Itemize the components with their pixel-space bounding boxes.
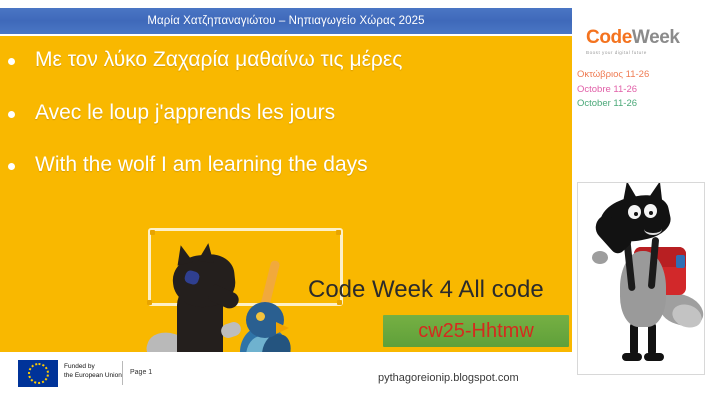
code-week-4-all-text: Code Week 4 All code (308, 276, 544, 304)
wolf-foot (622, 353, 642, 361)
wolf-ear (198, 242, 216, 263)
presentation-slide-view: Μαρία Χατζηπαναγιώτου – Νηπιαγωγείο Χώρα… (0, 0, 710, 400)
wolf-photo-frame (577, 182, 705, 375)
wolf-pupil (649, 211, 653, 215)
wolf-leg (630, 323, 638, 355)
slide-canvas: Μαρία Χατζηπαναγιώτου – Νηπιαγωγείο Χώρα… (0, 0, 572, 400)
blog-url-text: pythagoreionip.blogspot.com (378, 372, 519, 384)
wolf-pupil (634, 212, 638, 216)
bullet-dot-icon (8, 163, 15, 170)
list-item: With the wolf I am learning the days (8, 151, 368, 179)
codeweek-logo-wordmark: CodeWeek (586, 27, 698, 49)
footer-divider (122, 361, 123, 385)
date-french: Octobre 11-26 (577, 83, 707, 98)
eu-funding-text: Funded by the European Union (64, 362, 122, 380)
board-pin-icon (147, 300, 152, 305)
bullet-text-english: With the wolf I am learning the days (35, 151, 368, 179)
eu-funding-line2: the European Union (64, 371, 122, 380)
wolf-nose (592, 251, 608, 264)
codeweek-logo[interactable]: CodeWeek Boost your digital future (586, 27, 698, 53)
eu-stars-ring (28, 363, 49, 384)
wolf-with-backpack-illustration (596, 189, 696, 371)
codeweek-logo-tagline: Boost your digital future (586, 50, 698, 55)
eu-flag-icon (18, 360, 58, 387)
codeweek-logo-week: Week (632, 27, 680, 48)
page-number-label: Page 1 (130, 369, 152, 376)
slide-header-title: Μαρία Χατζηπαναγιώτου – Νηπιαγωγείο Χώρα… (147, 15, 424, 27)
wolf-foot (644, 353, 664, 361)
slide-header-bar: Μαρία Χατζηπαναγιώτου – Νηπιαγωγείο Χώρα… (0, 8, 572, 34)
code-badge[interactable]: cw25-Hhtmw (383, 315, 569, 347)
eu-funding-line1: Funded by (64, 362, 122, 371)
bird-beak (276, 322, 289, 334)
bullet-text-french: Avec le loup j'apprends les jours (35, 99, 335, 127)
bullet-dot-icon (8, 58, 15, 65)
wolf-leg (648, 323, 656, 355)
list-item: Avec le loup j'apprends les jours (8, 99, 335, 127)
bullet-dot-icon (8, 111, 15, 118)
codeweek-dates-list: Οκτώβριος 11-26 Octobre 11-26 October 11… (577, 68, 707, 112)
codeweek-logo-code: Code (586, 27, 632, 48)
date-english: October 11-26 (577, 97, 707, 112)
bullet-text-greek: Με τον λύκο Ζαχαρία μαθαίνω τις μέρες (35, 46, 402, 74)
date-greek: Οκτώβριος 11-26 (577, 68, 707, 83)
slide-footer: Funded by the European Union Page 1 pyth… (0, 352, 572, 400)
bird-eye (256, 312, 265, 321)
wolf-smile (644, 223, 662, 235)
list-item: Με τον λύκο Ζαχαρία μαθαίνω τις μέρες (8, 46, 402, 74)
right-side-panel: CodeWeek Boost your digital future Οκτώβ… (572, 0, 710, 400)
wolf-ear (618, 182, 640, 206)
backpack-tab (676, 255, 685, 268)
code-badge-text: cw25-Hhtmw (418, 320, 534, 343)
